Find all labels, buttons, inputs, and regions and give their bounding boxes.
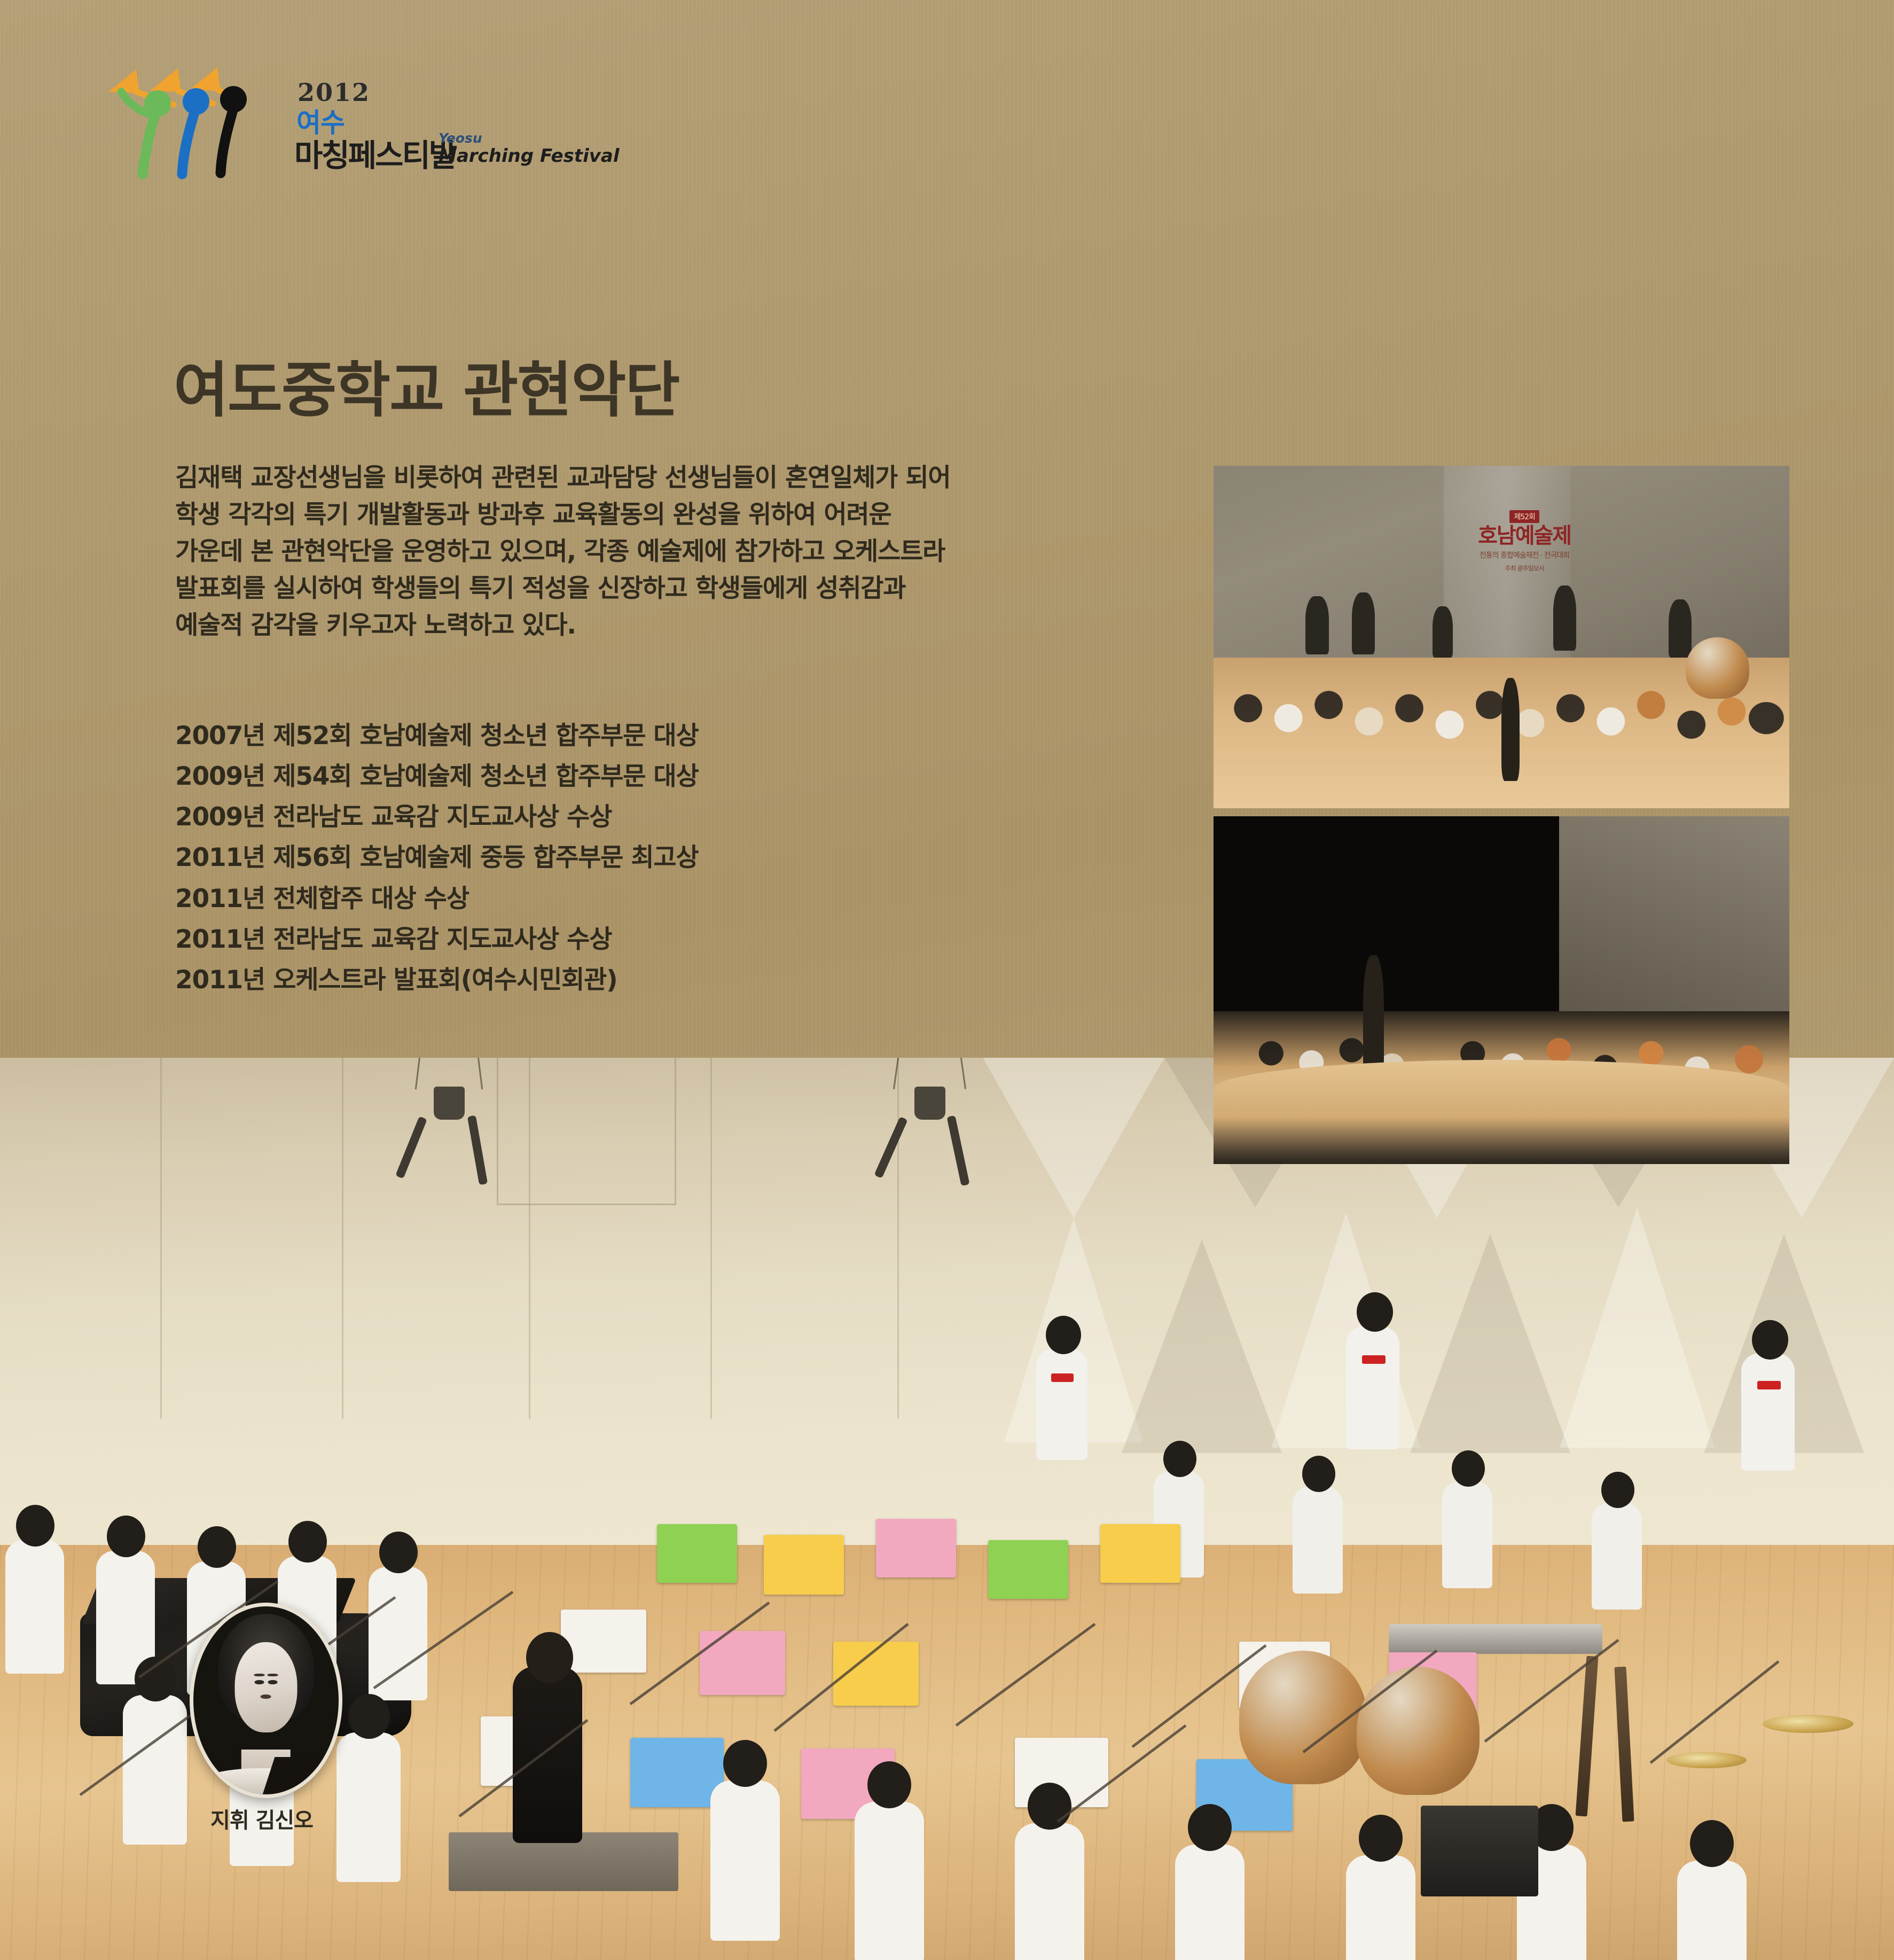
portrait-face: [235, 1642, 298, 1732]
sheet-music: [561, 1610, 646, 1673]
portrait-mouth: [261, 1694, 271, 1699]
portrait-dress: [263, 1757, 336, 1794]
mic-body: [914, 1087, 945, 1120]
player-head: [348, 1694, 390, 1739]
intro-line: 가운데 본 관현악단을 운영하고 있으며, 각종 예술제에 참가하고 오케스트라: [175, 533, 1190, 570]
player-head: [1028, 1783, 1071, 1830]
intro-line: 예술적 감각을 키우고자 노력하고 있다.: [175, 607, 1190, 644]
player-head: [1357, 1292, 1393, 1332]
player-head: [1188, 1804, 1232, 1851]
intro-line: 김재택 교장선생님을 비롯하여 관련된 교과담당 선생님들이 혼연일체가 되어: [175, 459, 1190, 496]
curved-stage-edge: [1214, 1060, 1789, 1164]
portrait-eyebrow: [254, 1674, 265, 1676]
portrait-eyebrow: [267, 1674, 278, 1676]
stage-screen-frame: [497, 1058, 676, 1205]
side-wall: [1559, 816, 1789, 1011]
player-body: [1346, 1326, 1399, 1449]
player-body: [1442, 1481, 1492, 1588]
photo-orchestra-recital: [1214, 816, 1789, 1164]
timpani-drum: [1357, 1667, 1480, 1795]
player-silhouette: [1352, 592, 1375, 654]
player-body: [1741, 1353, 1795, 1471]
logo-festival-en: Marching Festival: [439, 145, 620, 167]
timpani-drum: [1239, 1651, 1367, 1784]
music-folder-yellow: [764, 1535, 844, 1595]
intro-paragraph: 김재택 교장선생님을 비롯하여 관련된 교과담당 선생님들이 혼연일체가 되어 …: [175, 459, 1190, 644]
drum-cymbal: [1763, 1715, 1853, 1733]
mic-body: [434, 1087, 465, 1120]
player-head: [379, 1532, 418, 1573]
banner-subtitle: 전통의 종합예술제전 · 전국대회: [1461, 550, 1588, 560]
player-body: [1677, 1861, 1747, 1960]
mic-capsule: [946, 1115, 969, 1186]
awards-list: 2007년 제52회 호남예술제 청소년 합주부문 대상 2009년 제54회 …: [175, 716, 699, 1001]
player-head: [1601, 1472, 1634, 1508]
player-head: [135, 1657, 176, 1701]
page-title: 여도중학교 관현악단: [174, 342, 679, 428]
music-folder-pink: [700, 1631, 785, 1695]
award-item: 2007년 제52회 호남예술제 청소년 합주부문 대상: [175, 716, 699, 756]
player-head: [1046, 1316, 1081, 1354]
banner-title: 호남예술제: [1461, 525, 1588, 546]
player-head: [1163, 1441, 1196, 1477]
player-head: [1302, 1456, 1335, 1492]
player-body: [855, 1802, 924, 1960]
red-bowtie: [1757, 1381, 1781, 1389]
banner-badge: 제52회: [1509, 510, 1539, 523]
conductor-silhouette: [1501, 678, 1520, 780]
player-body: [1015, 1823, 1084, 1960]
intro-line: 발표회를 실시하여 학생들의 특기 적성을 신장하고 학생들에게 성취감과: [175, 570, 1190, 607]
mic-wire: [415, 1058, 433, 1089]
player-body: [1592, 1503, 1642, 1610]
conductor-portrait: [190, 1603, 335, 1791]
drum-cymbal: [1666, 1752, 1747, 1768]
award-item: 2011년 전체합주 대상 수상: [175, 879, 699, 919]
player-head: [1452, 1450, 1485, 1487]
player-silhouette: [1433, 606, 1453, 658]
player-head: [107, 1516, 145, 1557]
portrait-eye: [255, 1680, 264, 1684]
music-folder-pink: [876, 1519, 956, 1578]
music-folder-yellow: [833, 1642, 919, 1706]
music-folder-yellow: [1100, 1524, 1180, 1583]
player-head: [288, 1521, 327, 1563]
music-folder-green: [988, 1540, 1068, 1599]
mic-capsule: [874, 1116, 907, 1178]
player-body: [1175, 1845, 1245, 1960]
player-head: [1359, 1815, 1403, 1862]
conductor-caption: 지휘 김신오: [150, 1803, 374, 1834]
music-folder-blue: [630, 1738, 724, 1807]
mic-capsule: [395, 1116, 427, 1178]
mic-wire: [465, 1058, 483, 1089]
hanging-microphone-rig: [374, 1058, 513, 1181]
mic-wire: [893, 1058, 914, 1089]
player-silhouette: [1669, 599, 1692, 658]
player-silhouette: [1305, 596, 1328, 654]
conductor-head: [526, 1632, 573, 1683]
banner-host: 주최 광주일보사: [1461, 564, 1588, 573]
player-head: [198, 1526, 236, 1568]
photo-honam-art-festival: 제52회 호남예술제 전통의 종합예술제전 · 전국대회 주최 광주일보사: [1214, 466, 1789, 808]
portrait-eye: [268, 1680, 278, 1684]
award-item: 2011년 전라남도 교육감 지도교사상 수상: [175, 919, 699, 960]
dark-backdrop: [1214, 816, 1570, 1011]
guitar-amplifier: [1421, 1806, 1538, 1896]
mic-wire: [945, 1058, 966, 1089]
player-head: [1752, 1320, 1788, 1360]
award-item: 2011년 오케스트라 발표회(여수시민회관): [175, 960, 699, 1001]
poster-page: 2012 여수 마칭페스티발 Yeosu Marching Festival 여…: [0, 0, 1894, 1960]
player-head: [1690, 1820, 1734, 1867]
award-item: 2009년 제54회 호남예술제 청소년 합주부문 대상: [175, 756, 699, 797]
intro-line: 학생 각각의 특기 개발활동과 방과후 교육활동의 완성을 위하여 어려운: [175, 496, 1190, 533]
player-head: [723, 1740, 767, 1787]
player-body: [369, 1567, 427, 1700]
award-item: 2009년 전라남도 교육감 지도교사상 수상: [175, 797, 699, 838]
hanging-microphone-rig: [855, 1058, 993, 1181]
player-head: [867, 1761, 911, 1808]
logo-figures-icon: [99, 60, 291, 183]
logo-festival-kr: 마칭페스티발: [294, 130, 456, 175]
portrait-oval-frame: [190, 1603, 342, 1798]
conductor-silhouette: [1363, 955, 1384, 1080]
player-body: [1036, 1348, 1087, 1460]
red-bowtie: [1362, 1355, 1386, 1364]
red-bowtie: [1051, 1373, 1074, 1382]
logo-yeosu-en: Yeosu: [439, 130, 482, 146]
player-body: [1293, 1487, 1343, 1594]
timpani-drum: [1686, 637, 1749, 699]
award-item: 2011년 제56회 호남예술제 중등 합주부문 최고상: [175, 838, 699, 878]
yeosu-marching-festival-logo: 2012 여수 마칭페스티발 Yeosu Marching Festival: [99, 60, 473, 183]
stage-banner: 제52회 호남예술제 전통의 종합예술제전 · 전국대회 주최 광주일보사: [1461, 510, 1588, 573]
player-body: [710, 1781, 780, 1941]
mic-capsule: [467, 1115, 488, 1185]
player-head: [16, 1505, 54, 1547]
player-silhouette: [1553, 585, 1576, 651]
music-folder-green: [657, 1524, 737, 1583]
player-body: [1346, 1855, 1415, 1960]
conductor-figure: [513, 1667, 582, 1843]
player-body: [5, 1540, 64, 1674]
